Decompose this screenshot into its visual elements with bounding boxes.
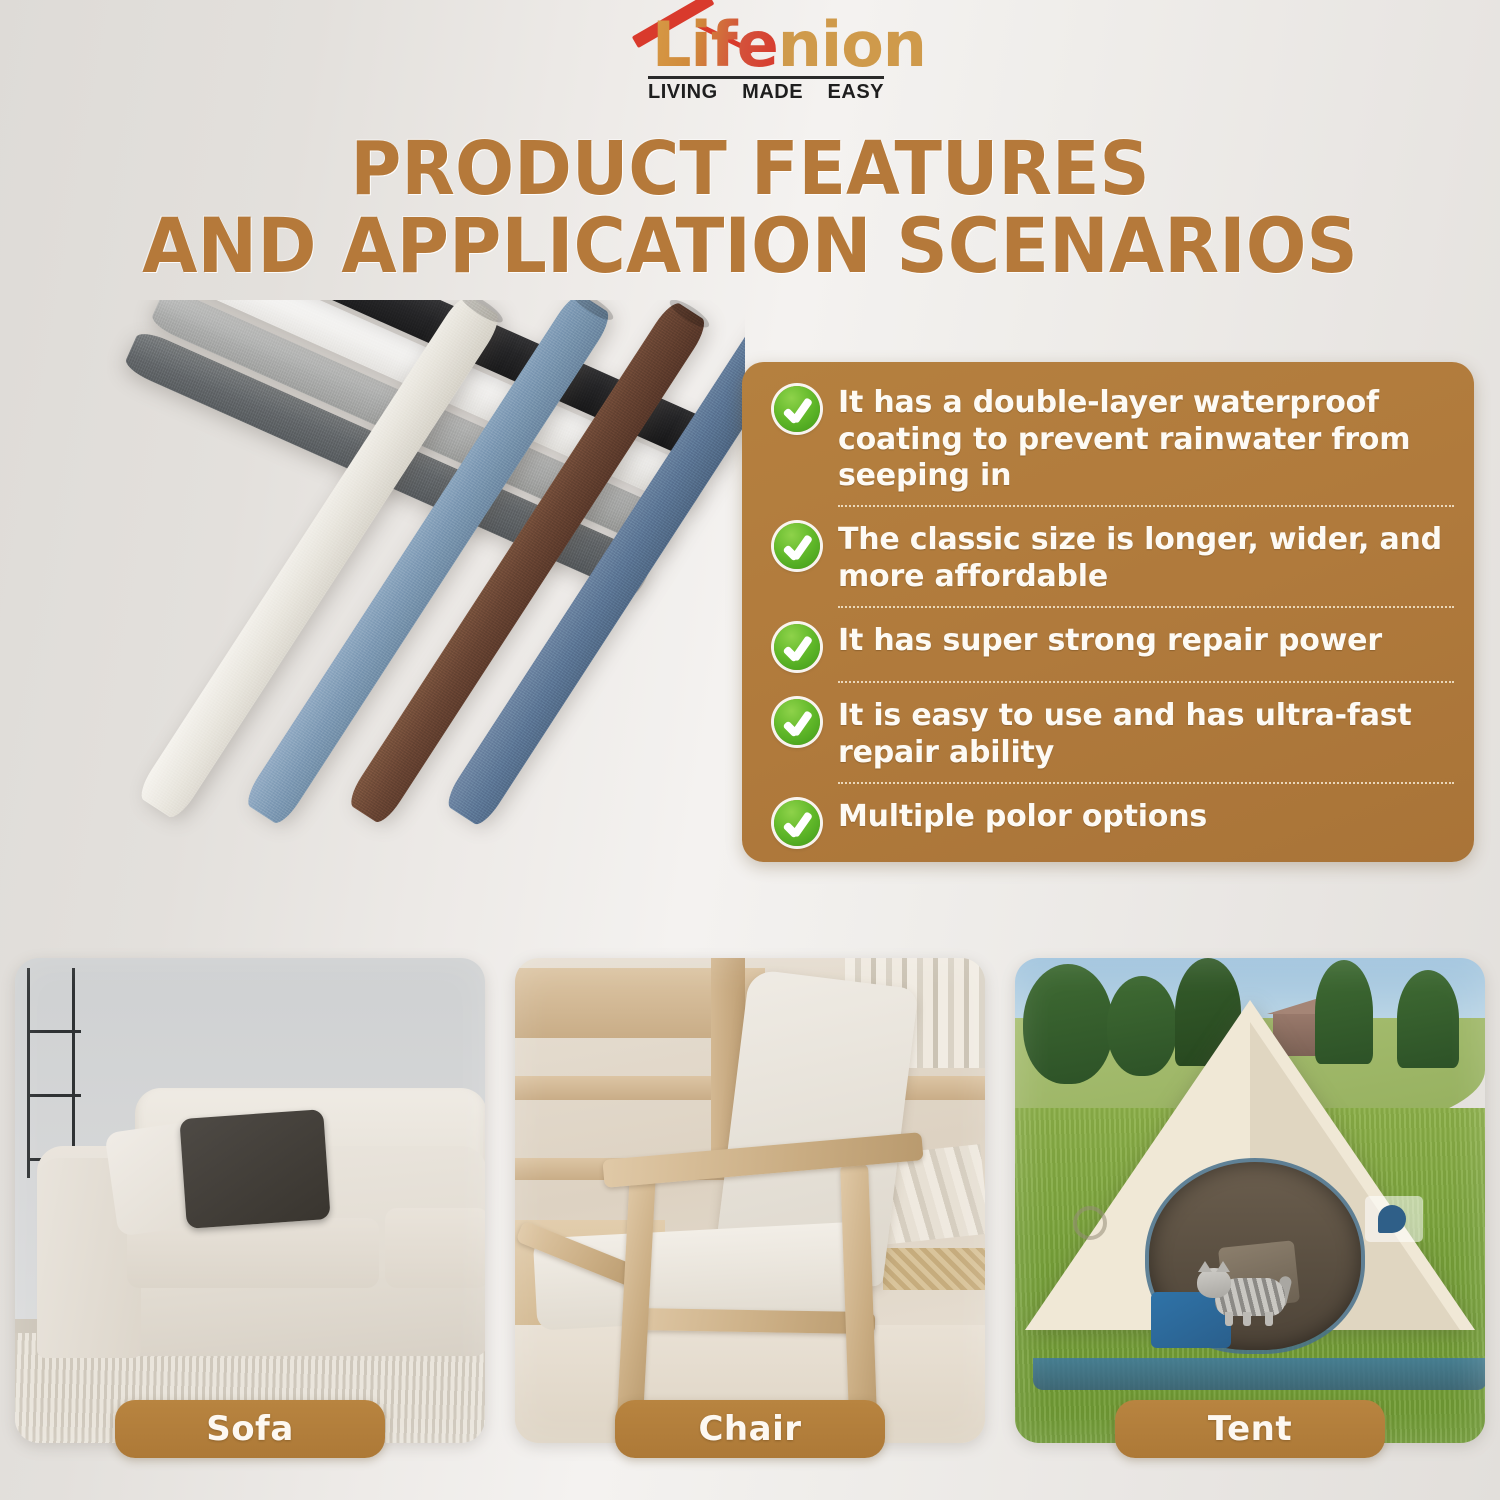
product-rolls-photo [55,300,745,960]
feature-item: Multiple polor options [760,794,1454,846]
check-circle-icon [774,386,820,432]
check-circle-icon [774,699,820,745]
brand-logo: Lifenion LIVING MADE EASY [630,8,890,108]
feature-divider [838,782,1454,784]
sofa-photo [15,958,485,1443]
scenario-label-sofa: Sofa [115,1400,385,1458]
chair-photo [515,958,985,1443]
check-circle-icon [774,523,820,569]
feature-text: Multiple polor options [838,798,1207,836]
brand-tagline: LIVING MADE EASY [648,81,884,104]
scenario-label-tent: Tent [1115,1400,1385,1458]
tagline-word-living: LIVING [648,81,718,104]
feature-item: The classic size is longer, wider, and m… [760,517,1454,595]
tent-logo-icon [1073,1206,1107,1240]
feature-divider [838,606,1454,608]
feature-item: It has a double-layer waterproof coating… [760,380,1454,495]
feature-text: It has super strong repair power [838,622,1382,660]
tent-brand-badge [1365,1196,1423,1242]
page-title-line2: AND APPLICATION SCENARIOS [45,207,1455,285]
feature-text: It has a double-layer waterproof coating… [838,384,1454,495]
brand-name-part2: nion [778,8,926,81]
page-title: PRODUCT FEATURES AND APPLICATION SCENARI… [45,132,1455,285]
tagline-word-made: MADE [742,81,803,104]
features-panel: It has a double-layer waterproof coating… [742,362,1474,862]
scenario-card-sofa [15,958,485,1443]
check-circle-icon [774,800,820,846]
feature-item: It is easy to use and has ultra-fast rep… [760,693,1454,771]
brand-name: Lifenion [652,14,926,76]
check-circle-icon [774,624,820,670]
brand-name-part1: Life [652,8,778,81]
scenario-label-chair: Chair [615,1400,885,1458]
dark-pillow [179,1109,330,1229]
feature-item: It has super strong repair power [760,618,1454,670]
scenario-card-chair [515,958,985,1443]
page-title-line1: PRODUCT FEATURES [45,132,1455,207]
feature-text: The classic size is longer, wider, and m… [838,521,1454,595]
tagline-word-easy: EASY [828,81,884,104]
feature-text: It is easy to use and has ultra-fast rep… [838,697,1454,771]
basket-decor [883,1248,985,1290]
tent-photo [1015,958,1485,1443]
scenario-card-tent [1015,958,1485,1443]
product-infographic: Lifenion LIVING MADE EASY PRODUCT FEATUR… [0,0,1500,1500]
cat [1197,1264,1287,1322]
feature-divider [838,681,1454,683]
feature-divider [838,505,1454,507]
logo-divider [648,76,884,79]
